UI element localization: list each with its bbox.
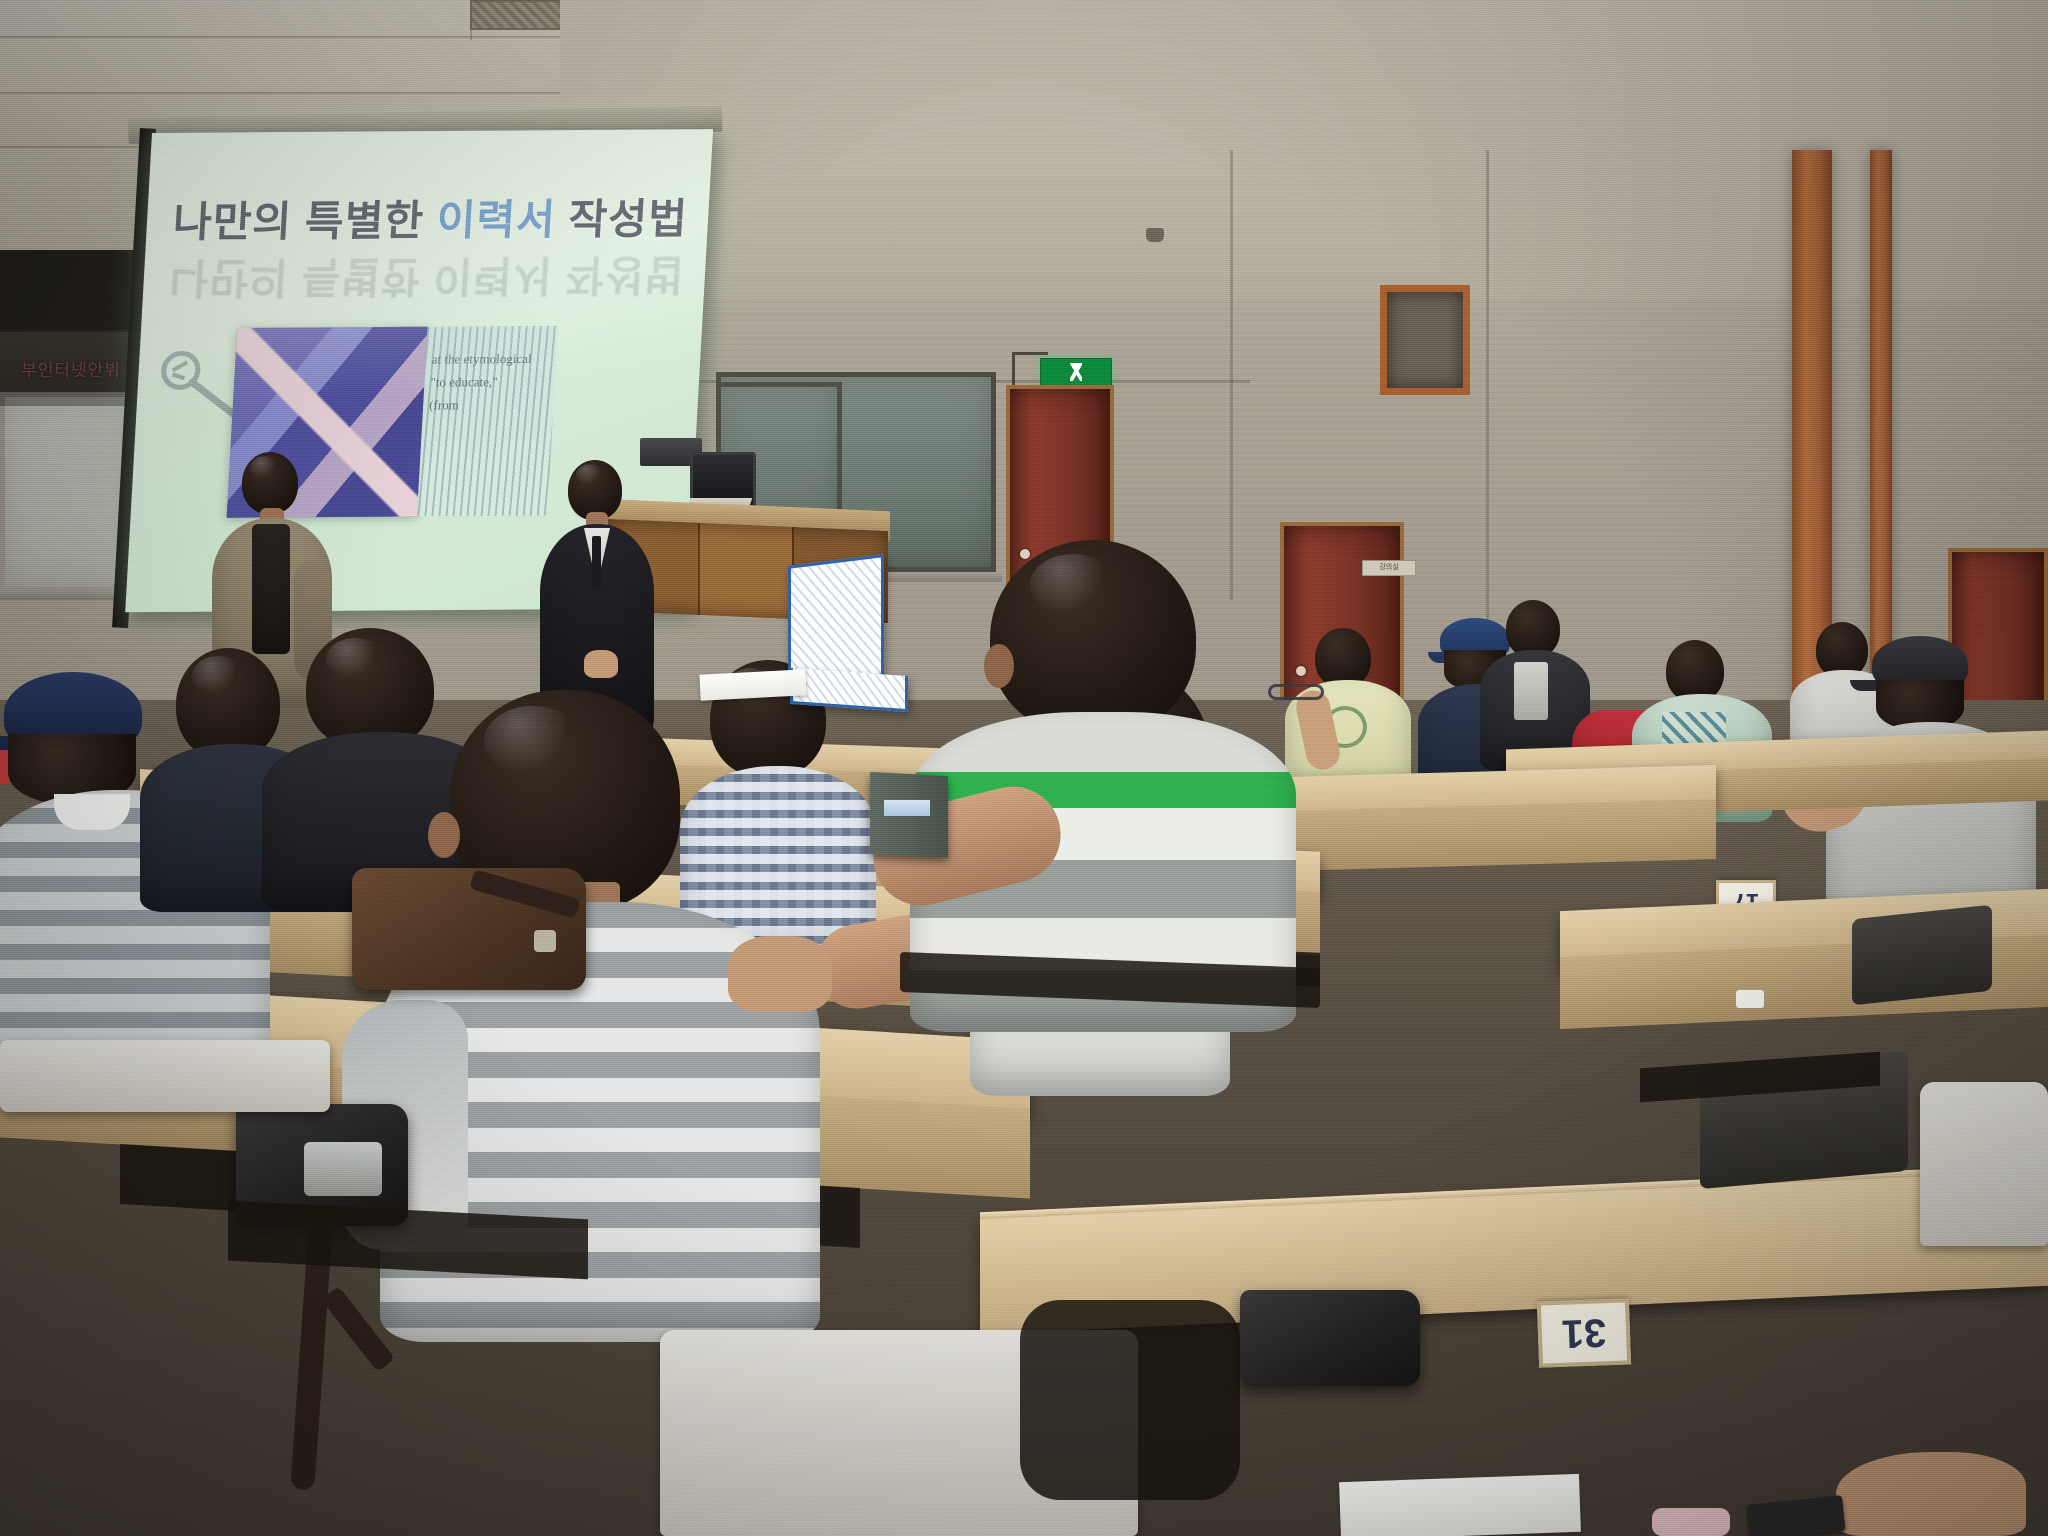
chair-dark-right-back[interactable] — [1852, 905, 1992, 1006]
slide-title-reflection: 나만의 특별한 이력서 작성법 — [168, 247, 686, 311]
hair-highlight — [484, 706, 582, 776]
hand-bottom-right — [1836, 1452, 2026, 1536]
hair-highlight — [326, 638, 384, 680]
eyeglasses-icon — [1268, 684, 1324, 700]
slide-body-line-2: "to educate," — [430, 370, 582, 394]
chair-left[interactable] — [0, 1040, 330, 1112]
hair-highlight — [192, 656, 244, 696]
bag-flap — [304, 1142, 382, 1196]
bag-buckle-icon — [534, 930, 556, 952]
brown-leather-bag[interactable] — [352, 868, 586, 990]
computer-tower-label — [884, 800, 930, 816]
hair-highlight — [250, 456, 280, 480]
black-bag-2[interactable] — [1240, 1290, 1420, 1386]
hair-highlight — [1030, 554, 1116, 616]
attendee-hand — [728, 936, 832, 1012]
chair-right[interactable] — [1920, 1082, 2048, 1246]
security-camera-icon — [1146, 228, 1164, 242]
hair-highlight — [576, 464, 604, 486]
attendee-head — [990, 540, 1196, 736]
door-room-plate: 강의실 — [1362, 560, 1416, 576]
wall-picture-frame — [1380, 285, 1470, 395]
magnifier-key-icon — [154, 348, 244, 422]
seat-placard-31: 31 — [1537, 1298, 1631, 1367]
slide-body-line-1: at the etymological — [431, 348, 583, 372]
cabinet-divider — [698, 523, 700, 615]
left-wall-sign-text: 부인터넷안뷔 — [21, 356, 121, 381]
polo-collar — [54, 794, 130, 830]
slide-title-segment-3: 이력서 — [435, 196, 569, 244]
paper-sheet — [699, 669, 806, 701]
presenter-head — [568, 460, 622, 520]
dark-clothing-pile — [1020, 1300, 1240, 1500]
presenter-head — [242, 452, 298, 514]
attendee-vest-panel — [1514, 662, 1548, 720]
slide-title-segment-1: 나만의 — [172, 198, 306, 246]
left-wall-dark-panel — [0, 250, 140, 340]
pink-object — [1652, 1508, 1730, 1536]
slide-title: 나만의 특별한 이력서 작성법 — [172, 185, 690, 249]
running-person-icon — [1070, 363, 1082, 381]
ear — [428, 812, 460, 858]
presenter-hands — [584, 650, 618, 678]
slide-title-segment-2: 특별한 — [304, 197, 438, 245]
attendee-glasses — [1268, 666, 1338, 746]
paper-sheet — [1339, 1474, 1581, 1536]
wall-seam — [1486, 150, 1489, 630]
slide-body-line-3: (from — [429, 393, 581, 417]
lecture-hall-photo: 부인터넷안뷔 강의실 나만의 특별한 이력서 작성법 나만의 특별한 이력서 작… — [0, 0, 2048, 1536]
presenter-necktie — [592, 536, 601, 590]
slide-title-segment-4: 작성법 — [567, 195, 689, 243]
wall-seam — [1230, 150, 1233, 600]
slide-body-text: at the etymological "to educate," (from — [429, 348, 583, 417]
ear — [984, 644, 1014, 688]
small-paper-item — [1736, 990, 1764, 1008]
attendee-head — [1666, 640, 1724, 702]
exit-sign — [1040, 358, 1112, 386]
